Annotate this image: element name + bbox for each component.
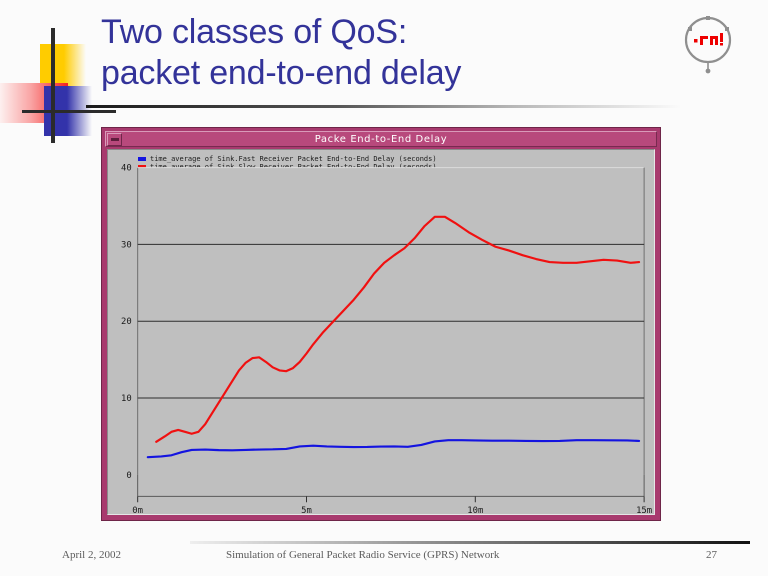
chart-window[interactable]: Packe End-to-End Delay time_average of S…	[101, 127, 661, 521]
svg-text:20: 20	[121, 317, 132, 327]
cnl-logo	[676, 14, 740, 76]
minimize-icon	[111, 138, 119, 141]
footer-subject: Simulation of General Packet Radio Servi…	[226, 549, 499, 561]
title-divider	[86, 105, 681, 108]
window-title: Packe End-to-End Delay	[122, 134, 640, 145]
svg-text:30: 30	[121, 240, 132, 250]
footer: April 2, 2002 Simulation of General Pack…	[0, 549, 768, 571]
page-title: Two classes of QoS: packet end-to-end de…	[101, 12, 661, 94]
slide-root: Two classes of QoS: packet end-to-end de…	[0, 0, 768, 576]
footer-page-number: 27	[706, 549, 717, 561]
svg-text:40: 40	[121, 164, 132, 174]
page-title-line1: Two classes of QoS:	[101, 13, 407, 51]
svg-text:10m: 10m	[467, 506, 483, 514]
motif-horizontal-bar	[22, 110, 116, 113]
chart-canvas: time_average of Sink.Fast Receiver Packe…	[107, 149, 655, 515]
svg-text:15m: 15m	[636, 506, 652, 514]
motif-vertical-bar	[51, 28, 55, 143]
window-titlebar[interactable]: Packe End-to-End Delay	[105, 131, 657, 147]
footer-date: April 2, 2002	[62, 549, 121, 561]
chart-window-inner: Packe End-to-End Delay time_average of S…	[105, 131, 657, 517]
minimize-button[interactable]	[107, 133, 122, 146]
chart-plot: 0102030400m5m10m15m	[108, 150, 654, 514]
svg-text:5m: 5m	[301, 506, 312, 514]
page-title-line2: packet end-to-end delay	[101, 53, 661, 94]
svg-text:0: 0	[126, 471, 131, 481]
footer-divider	[190, 541, 750, 544]
cnl-logo-icon	[676, 14, 740, 76]
svg-text:0m: 0m	[132, 506, 143, 514]
svg-text:10: 10	[121, 394, 132, 404]
motif-yellow-square	[40, 44, 86, 88]
